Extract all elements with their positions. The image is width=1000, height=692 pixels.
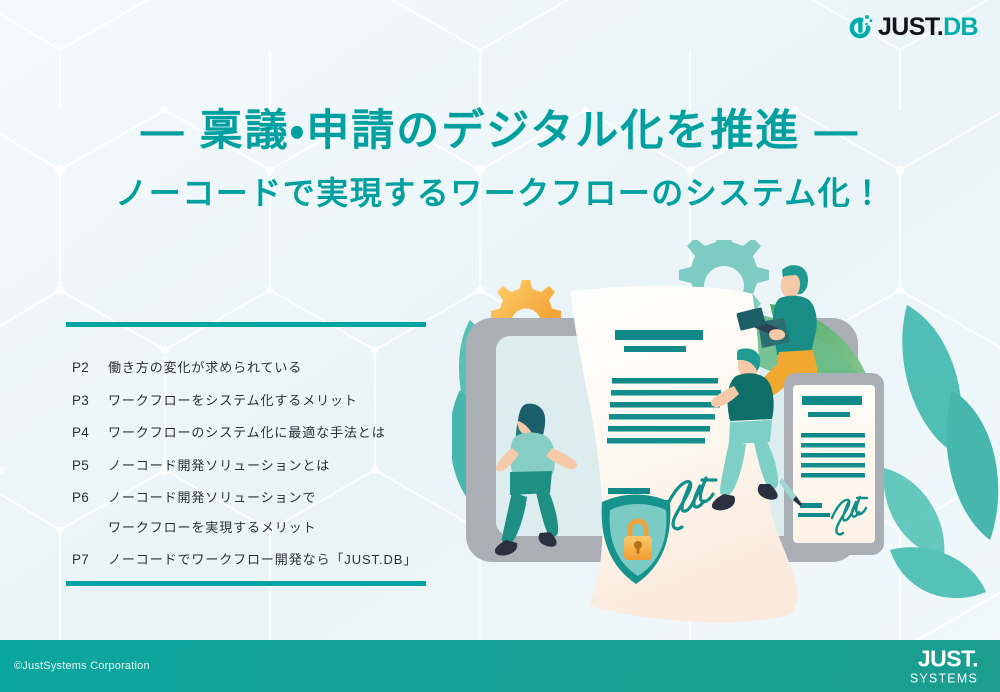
toc-page-number: P3	[72, 394, 108, 408]
justsystems-logo-line1: JUST.	[910, 647, 978, 670]
justsystems-logo-line2: SYSTEMS	[910, 672, 978, 685]
justdb-logo[interactable]: JUST.DB	[847, 13, 978, 41]
toc-item-label: 働き方の変化が求められている	[108, 361, 302, 374]
justdb-logo-db: DB	[943, 15, 978, 40]
toc-page-number: P2	[72, 361, 108, 375]
list-item[interactable]: P7 ノーコードでワークフロー開発なら「JUST.DB」	[72, 553, 426, 567]
list-item[interactable]: P4 ワークフローのシステム化に最適な手法とは	[72, 426, 426, 440]
toc-item-label-line1: ノーコード開発ソリューションで	[108, 490, 316, 505]
toc-item-label: ノーコード開発ソリューションとは	[108, 459, 330, 472]
justdb-mark-icon	[847, 13, 873, 41]
table-of-contents: P2 働き方の変化が求められている P3 ワークフローをシステム化するメリット …	[66, 322, 426, 586]
toc-item-label: ワークフローのシステム化に最適な手法とは	[108, 426, 386, 439]
toc-item-label: ノーコードでワークフロー開発なら「JUST.DB」	[108, 553, 417, 566]
toc-page-number: P5	[72, 459, 108, 473]
toc-list: P2 働き方の変化が求められている P3 ワークフローをシステム化するメリット …	[66, 327, 426, 581]
copyright-text: ©JustSystems Corporation	[14, 660, 150, 672]
leaf-icon	[884, 305, 999, 598]
document-workflow-illustration	[452, 240, 1000, 630]
justdb-logo-just: JUST.	[878, 15, 943, 40]
toc-item-label: ワークフローをシステム化するメリット	[108, 394, 358, 407]
slide-root: JUST.DB — 稟議・申請のデジタル化を推進 — ノーコードで実現するワーク…	[0, 0, 1000, 692]
justsystems-logo: JUST. SYSTEMS	[910, 647, 978, 685]
toc-item-label: ノーコード開発ソリューションで ワークフローを実現するメリット	[108, 491, 317, 534]
list-item[interactable]: P5 ノーコード開発ソリューションとは	[72, 459, 426, 473]
toc-page-number: P6	[72, 491, 108, 505]
toc-item-label-line2: ワークフローを実現するメリット	[108, 521, 317, 534]
toc-page-number: P4	[72, 426, 108, 440]
page-title-sub: ノーコードで実現するワークフローのシステム化！	[0, 168, 1000, 214]
footer-bar: ©JustSystems Corporation JUST. SYSTEMS	[0, 640, 1000, 692]
list-item[interactable]: P3 ワークフローをシステム化するメリット	[72, 394, 426, 408]
justdb-logo-text: JUST.DB	[878, 15, 978, 40]
top-bar: JUST.DB	[0, 0, 1000, 62]
page-title-main: — 稟議・申請のデジタル化を推進 —	[0, 96, 1000, 158]
toc-divider-bottom	[66, 581, 426, 586]
toc-page-number: P7	[72, 553, 108, 567]
list-item[interactable]: P2 働き方の変化が求められている	[72, 361, 426, 375]
list-item[interactable]: P6 ノーコード開発ソリューションで ワークフローを実現するメリット	[72, 491, 426, 534]
